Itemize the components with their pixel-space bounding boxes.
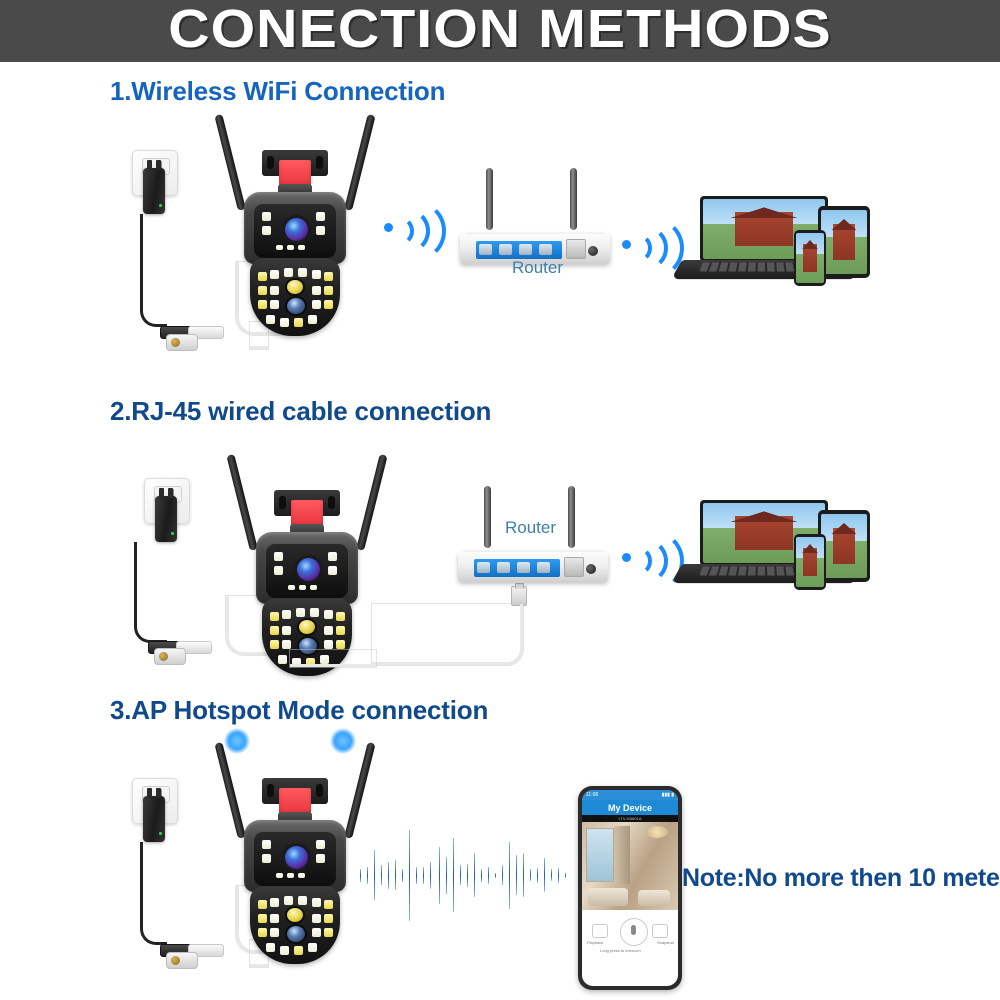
led-icon [280,946,289,955]
phone-status-bar: 11:08 ▮▮▮ ▮ [582,790,678,800]
router-power-jack [586,564,596,574]
camera-upper-lens [285,846,308,869]
lan-port-4 [537,562,550,573]
led-icon [294,946,303,955]
led-icon [270,286,279,295]
led-icon [258,928,267,937]
led-icon [324,286,333,295]
bnc-connector-3 [166,952,198,969]
led-icon [266,315,275,324]
viewing-devices-1 [676,196,891,288]
led-icon [270,270,279,279]
power-adapter-3 [143,796,165,842]
header-band: CONECTION METHODS [0,0,1000,62]
led-icon [324,300,333,309]
section-3-heading: 3.AP Hotspot Mode connection [110,695,488,726]
router-antenna-right-icon [570,168,577,230]
smartphone-1 [794,230,826,286]
signal-waveform [358,820,566,930]
led-icon [282,640,291,649]
adapter-led-icon [171,532,174,535]
router-antenna-right-icon [568,486,575,548]
bnc-connector-2 [154,648,186,665]
adapter-prong-left-icon [147,788,152,798]
smartphone-screen-content [796,537,824,587]
led-icon [258,286,267,295]
playback-label: Playback [587,940,603,945]
infographic-page: CONECTION METHODS 1.Wireless WiFi Connec… [0,0,1000,1000]
antenna-left-icon [214,742,245,839]
adapter-prong-left-icon [159,488,164,498]
adapter-prong-right-icon [156,788,161,798]
led-icon [316,226,325,235]
bracket-hole-right-icon [328,496,335,509]
camera-lower-ir-lamp [299,620,315,634]
led-icon [258,272,267,281]
led-icon [276,245,283,250]
distance-note: Note:No more then 10 meters [682,864,1000,893]
led-icon [270,300,279,309]
led-icon [278,655,287,664]
antenna-right-icon [356,454,387,551]
bracket-hole-right-icon [316,156,323,169]
led-icon [270,914,279,923]
adapter-prong-right-icon [156,160,161,170]
router-1 [460,168,610,264]
led-icon [312,928,321,937]
camera-3 [232,740,358,970]
camera-upper-lens [297,558,320,581]
led-icon [324,914,333,923]
led-icon [299,585,306,590]
led-icon [312,300,321,309]
router-wan-port [564,557,584,577]
led-icon [270,612,279,621]
led-icon [324,900,333,909]
antenna-left-icon [214,114,245,211]
feed-sofa-right [638,890,670,906]
phone-screen: 11:08 ▮▮▮ ▮ My Device LTV-HA801A Playbac… [582,790,678,986]
lan-port-2 [497,562,510,573]
led-icon [298,245,305,250]
led-icon [284,896,293,905]
wifi-signal-icon-1b [620,215,678,273]
led-icon [324,272,333,281]
router-lan-ports [476,241,562,259]
led-icon [274,552,283,561]
wifi-arc-icon [384,200,446,262]
router-wan-port [566,239,586,259]
playback-icon[interactable] [592,924,608,938]
led-icon [328,566,337,575]
device-id-label: LTV-HA801A [582,815,678,822]
power-cable-3 [140,842,167,945]
page-title: CONECTION METHODS [0,0,1000,60]
power-adapter-2 [155,496,177,542]
camera-lower-ir-lamp [287,280,303,294]
led-icon [276,873,283,878]
led-icon [310,608,319,617]
led-icon [316,840,325,849]
led-icon [336,612,345,621]
led-icon [262,212,271,221]
led-icon [328,552,337,561]
lan-port-2 [499,244,512,255]
phone-control-bar: Playback Long press to intercom Snapshot [582,910,678,972]
led-icon [296,608,305,617]
lan-port-1 [479,244,492,255]
antenna-left-icon [226,454,257,551]
smartphone-screen-content [796,233,824,283]
led-icon [312,270,321,279]
wifi-arc-icon [622,217,684,279]
led-icon [298,896,307,905]
lan-port-1 [477,562,490,573]
led-icon [262,840,271,849]
wifi-signal-icon-2 [620,528,678,586]
camera-icon[interactable] [652,924,668,938]
camera-upper-lens [285,218,308,241]
led-icon [258,900,267,909]
status-time: 11:08 [586,792,598,798]
microphone-icon[interactable] [620,918,648,946]
adapter-led-icon [159,204,162,207]
led-icon [270,928,279,937]
router-antenna-left-icon [486,168,493,230]
led-icon [308,943,317,952]
tablet-screen-content [821,514,867,578]
led-icon [316,212,325,221]
led-icon [324,640,333,649]
led-icon [310,585,317,590]
snapshot-label: Snapshot [657,940,674,945]
wifi-signal-icon-1a [382,198,440,256]
antenna-right-icon [344,114,375,211]
led-icon [312,898,321,907]
camera-live-feed[interactable] [582,822,678,910]
led-icon [298,268,307,277]
lan-port-3 [519,244,532,255]
lan-port-3 [517,562,530,573]
led-icon [258,300,267,309]
bracket-hole-right-icon [316,784,323,797]
led-icon [258,914,267,923]
power-adapter-1 [143,168,165,214]
camera-2 [244,452,370,682]
led-icon [280,318,289,327]
led-icon [282,610,291,619]
led-icon [298,873,305,878]
smartphone-2 [794,534,826,590]
led-icon [282,626,291,635]
led-icon [316,854,325,863]
camera-lower-ir-lamp [287,908,303,922]
router-power-jack [588,246,598,256]
led-icon [324,626,333,635]
led-icon [284,268,293,277]
section-2-heading: 2.RJ-45 wired cable connection [110,396,491,427]
led-icon [270,640,279,649]
intercom-label: Long press to intercom [600,948,641,953]
led-icon [288,585,295,590]
led-icon [324,610,333,619]
feed-curtain [614,826,630,884]
router-label-2: Router [505,518,556,538]
ethernet-cable-vertical-2 [372,604,523,665]
bnc-connector-1 [166,334,198,351]
router-lan-ports [474,559,560,577]
app-title: My Device [582,800,678,815]
viewing-devices-2 [676,500,891,592]
adapter-led-icon [159,832,162,835]
bracket-hole-left-icon [267,156,274,169]
feed-chandelier [646,826,668,838]
led-icon [324,928,333,937]
status-icons: ▮▮▮ ▮ [662,792,674,798]
rj45-connector-2 [511,586,527,606]
router-antenna-left-icon [484,486,491,548]
camera-lower-lens [287,298,305,314]
led-icon [266,943,275,952]
bracket-hole-left-icon [279,496,286,509]
ethernet-cable-horizontal-2 [290,650,376,667]
adapter-prong-right-icon [168,488,173,498]
led-icon [308,315,317,324]
led-icon [287,245,294,250]
section-1-heading: 1.Wireless WiFi Connection [110,76,445,107]
router-label-1: Router [512,258,563,278]
camera-1 [232,112,358,342]
led-icon [262,226,271,235]
led-icon [274,566,283,575]
led-icon [312,286,321,295]
bracket-hole-left-icon [267,784,274,797]
adapter-prong-left-icon [147,160,152,170]
smartphone-app-preview: 11:08 ▮▮▮ ▮ My Device LTV-HA801A Playbac… [578,786,682,990]
led-icon [312,914,321,923]
tablet-screen-content [821,210,867,274]
power-cable-1 [140,214,167,327]
feed-window [586,828,614,882]
led-icon [336,640,345,649]
wifi-arc-icon [622,530,684,592]
led-icon [294,318,303,327]
led-icon [270,626,279,635]
led-icon [262,854,271,863]
feed-sofa-left [588,888,628,906]
power-cable-2 [134,542,167,643]
led-icon [336,626,345,635]
led-icon [270,898,279,907]
lan-port-4 [539,244,552,255]
camera-lower-lens [287,926,305,942]
led-icon [287,873,294,878]
